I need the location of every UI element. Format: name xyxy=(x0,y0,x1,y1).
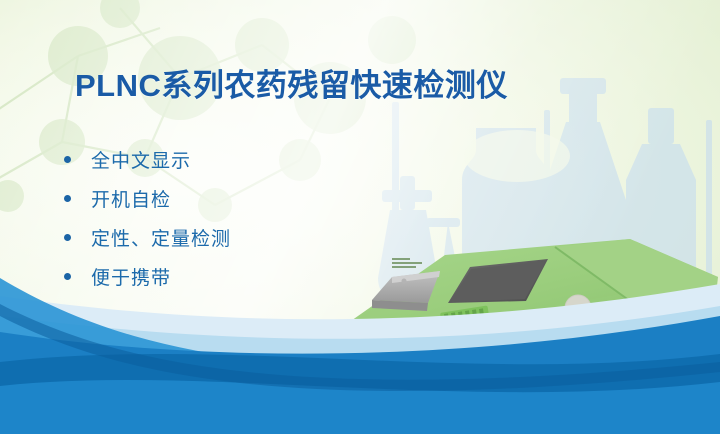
bullet-dot-icon xyxy=(64,273,71,280)
bullet-dot-icon xyxy=(64,234,71,241)
feature-list: 全中文显示 开机自检 定性、定量检测 便于携带 xyxy=(64,140,231,296)
list-item: 定性、定量检测 xyxy=(64,218,231,257)
page-title: PLNC系列农药残留快速检测仪 xyxy=(75,60,508,105)
product-banner: PLNC系列农药残留快速检测仪 全中文显示 开机自检 定性、定量检测 便于携带 xyxy=(0,0,720,434)
feature-label: 便于携带 xyxy=(91,263,171,290)
feature-label: 开机自检 xyxy=(91,185,171,212)
list-item: 便于携带 xyxy=(64,257,231,296)
list-item: 全中文显示 xyxy=(64,140,231,179)
feature-label: 全中文显示 xyxy=(91,146,191,173)
bullet-dot-icon xyxy=(64,195,71,202)
list-item: 开机自检 xyxy=(64,179,231,218)
feature-label: 定性、定量检测 xyxy=(91,224,231,251)
bullet-dot-icon xyxy=(64,156,71,163)
